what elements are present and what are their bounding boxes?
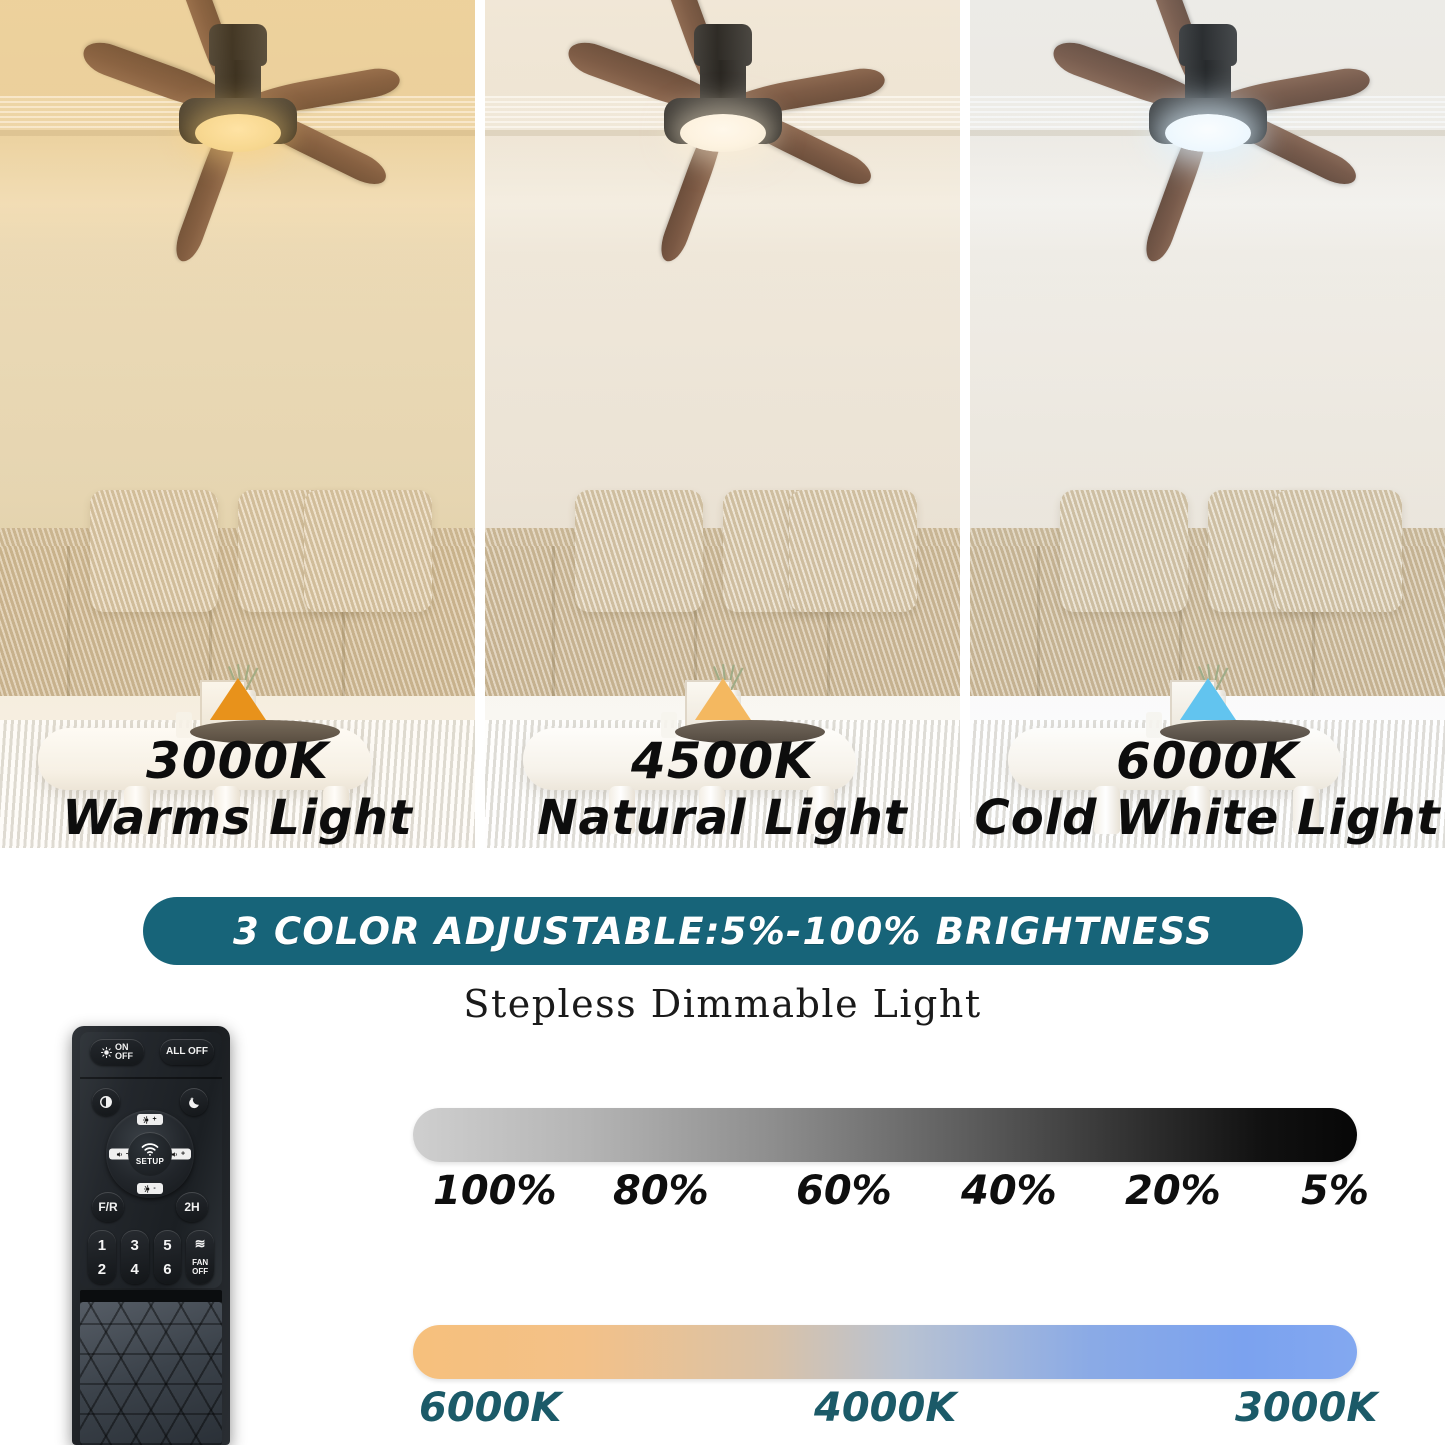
- temperature-tick: 6000K: [419, 1385, 561, 1431]
- speed-5-label: 5: [163, 1237, 171, 1254]
- kelvin-label: 6000K: [970, 736, 1445, 786]
- brightness-button[interactable]: [92, 1088, 120, 1116]
- color-temperature-scale: 6000K 4000K 3000K: [413, 1325, 1357, 1441]
- moon-star-icon: [187, 1095, 202, 1110]
- throw-pillow: [789, 490, 917, 612]
- caption-6000k: 6000K Cold White Light: [970, 736, 1445, 842]
- speed-numpad: 1 2 3 4 5 6 ≋ FAN OFF: [88, 1230, 214, 1284]
- setup-button[interactable]: SETUP: [128, 1132, 172, 1176]
- throw-pillow: [575, 490, 703, 612]
- forward-reverse-button[interactable]: F/R: [92, 1192, 124, 1222]
- light-on-off-button[interactable]: ON OFF: [90, 1039, 144, 1065]
- fr-label: F/R: [98, 1201, 117, 1213]
- sofa-seam: [67, 546, 70, 696]
- speed-button-3-4[interactable]: 3 4: [121, 1230, 149, 1284]
- product-infographic: 3000K Warms Light: [0, 0, 1445, 1445]
- throw-pillow: [90, 490, 218, 612]
- speed-4-label: 4: [130, 1261, 138, 1278]
- fan-light-natural: [680, 114, 766, 152]
- panel-6000k: 6000K Cold White Light: [970, 0, 1445, 848]
- speed-button-5-6[interactable]: 5 6: [154, 1230, 182, 1284]
- fan-wave-icon: ≋: [195, 1238, 206, 1250]
- caption-4500k: 4500K Natural Light: [485, 736, 960, 842]
- headline-banner: 3 COLOR ADJUSTABLE:5%-100% BRIGHTNESS: [143, 897, 1303, 965]
- fan-light-cold: [1165, 114, 1251, 152]
- subtitle-text: Stepless Dimmable Light: [0, 982, 1445, 1026]
- sun-icon: [101, 1047, 112, 1058]
- brightness-tick: 60%: [796, 1168, 892, 1214]
- color-temperature-tick-labels: 6000K 4000K 3000K: [413, 1385, 1357, 1441]
- brightness-tick: 5%: [1301, 1168, 1369, 1214]
- ceiling-fan-natural: [513, 2, 933, 212]
- kelvin-label: 3000K: [0, 736, 475, 786]
- speed-button-1-2[interactable]: 1 2: [88, 1230, 116, 1284]
- headline-text: 3 COLOR ADJUSTABLE:5%-100% BRIGHTNESS: [233, 910, 1213, 953]
- setup-label: SETUP: [136, 1157, 164, 1166]
- marker-triangle-4500k: [695, 678, 751, 720]
- marker-triangle-6000k: [1180, 678, 1236, 720]
- color-temperature-gradient-bar: [413, 1325, 1357, 1379]
- fan-light-warm: [195, 114, 281, 152]
- speed-1-label: 1: [98, 1237, 106, 1254]
- ceiling-fan-warm: [28, 2, 448, 212]
- remote-control: ON OFF ALL OFF: [72, 1026, 230, 1445]
- brightness-tick-labels: 100% 80% 60% 40% 20% 5%: [413, 1168, 1357, 1224]
- remote-grip-texture: [80, 1302, 222, 1445]
- dpad-down-button[interactable]: -: [137, 1183, 163, 1194]
- light-name-label: Natural Light: [485, 794, 960, 842]
- throw-pillow: [1274, 490, 1402, 612]
- temperature-tick: 4000K: [814, 1385, 956, 1431]
- dpad-control[interactable]: + - - +: [106, 1110, 194, 1198]
- night-mode-button[interactable]: [180, 1088, 208, 1116]
- light-name-label: Cold White Light: [970, 794, 1445, 842]
- sofa-seam: [552, 546, 555, 696]
- ceiling-fan-cold: [998, 2, 1418, 212]
- all-off-button[interactable]: ALL OFF: [160, 1039, 214, 1065]
- brightness-scale: 100% 80% 60% 40% 20% 5%: [413, 1108, 1357, 1224]
- keypad-divider: [80, 1077, 222, 1079]
- throw-pillow: [304, 490, 432, 612]
- fan-off-button[interactable]: ≋ FAN OFF: [186, 1230, 214, 1284]
- throw-pillow: [1060, 490, 1188, 612]
- temperature-tick: 3000K: [1235, 1385, 1377, 1431]
- dpad-right-label: +: [181, 1151, 185, 1158]
- speed-2-label: 2: [98, 1261, 106, 1278]
- brightness-tick: 20%: [1125, 1168, 1221, 1214]
- caption-3000k: 3000K Warms Light: [0, 736, 475, 842]
- brightness-gradient-bar: [413, 1108, 1357, 1162]
- speed-6-label: 6: [163, 1261, 171, 1278]
- marker-triangle-3000k: [210, 678, 266, 720]
- panel-3000k: 3000K Warms Light: [0, 0, 475, 848]
- two-hour-timer-button[interactable]: 2H: [176, 1192, 208, 1222]
- all-off-label: ALL OFF: [166, 1047, 208, 1057]
- brightness-tick: 80%: [613, 1168, 709, 1214]
- dpad-down-label: -: [153, 1185, 155, 1192]
- speed-3-label: 3: [130, 1237, 138, 1254]
- sofa-seam: [1037, 546, 1040, 696]
- dpad-up-button[interactable]: +: [137, 1114, 163, 1125]
- fan-off-label: OFF: [192, 1268, 208, 1276]
- dpad-up-label: +: [152, 1116, 156, 1123]
- lighting-comparison-gallery: 3000K Warms Light: [0, 0, 1445, 848]
- panel-4500k: 4500K Natural Light: [485, 0, 960, 848]
- kelvin-label: 4500K: [485, 736, 960, 786]
- light-name-label: Warms Light: [0, 794, 475, 842]
- brightness-tick: 100%: [433, 1168, 557, 1214]
- off-label: OFF: [115, 1052, 133, 1061]
- brightness-tick: 40%: [961, 1168, 1057, 1214]
- timer-label: 2H: [184, 1201, 199, 1213]
- wifi-icon: [141, 1143, 159, 1156]
- brightness-icon: [99, 1095, 113, 1109]
